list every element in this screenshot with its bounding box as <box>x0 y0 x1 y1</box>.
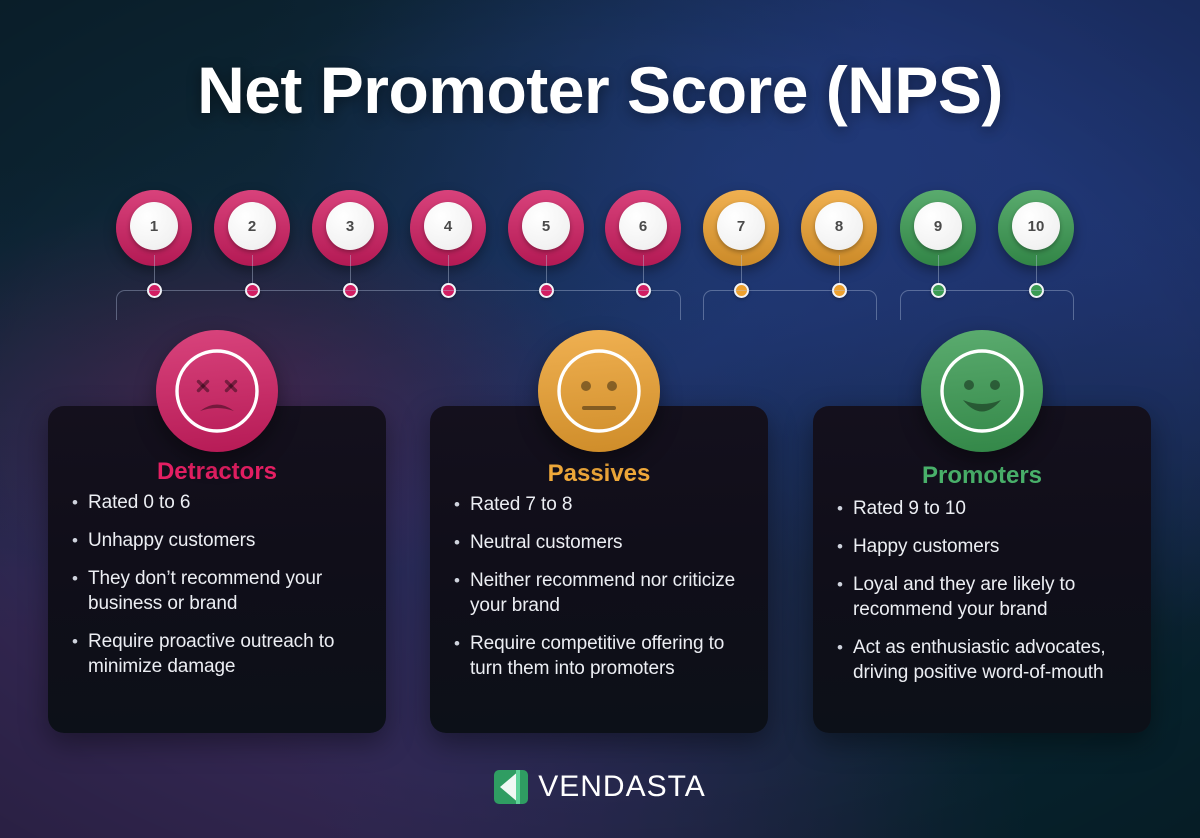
segment-title-detractors: Detractors <box>48 460 386 484</box>
bullet-item: •Act as enthusiastic advocates, driving … <box>837 635 1129 685</box>
bullet-dot-icon: • <box>72 629 88 654</box>
vendasta-chevron-logo-icon <box>494 770 528 804</box>
bullet-dot-icon: • <box>454 530 470 555</box>
connector-stem-10 <box>1036 255 1037 285</box>
score-inner-disc: 10 <box>1012 202 1060 250</box>
bullet-text: Rated 9 to 10 <box>853 496 966 521</box>
bullet-text: Rated 0 to 6 <box>88 490 190 515</box>
bullet-dot-icon: • <box>454 492 470 517</box>
segment-title-passives: Passives <box>430 462 768 486</box>
score-value-label: 10 <box>1028 219 1045 234</box>
score-inner-disc: 2 <box>228 202 276 250</box>
bracket-detractors <box>116 290 681 320</box>
score-inner-disc: 1 <box>130 202 178 250</box>
connector-stem-8 <box>839 255 840 285</box>
bullet-text: Neither recommend nor criticize your bra… <box>470 568 746 618</box>
score-value-label: 7 <box>737 219 745 234</box>
segment-card-passives: Passives•Rated 7 to 8•Neutral customers•… <box>430 406 768 733</box>
vendasta-wordmark: VENDASTA <box>538 772 705 802</box>
score-value-label: 4 <box>444 219 452 234</box>
score-value-label: 6 <box>639 219 647 234</box>
bullet-text: Rated 7 to 8 <box>470 492 572 517</box>
neutral-face-icon <box>538 330 660 452</box>
bullet-dot-icon: • <box>72 528 88 553</box>
bracket-passives <box>703 290 877 320</box>
bullet-dot-icon: • <box>837 635 853 660</box>
score-value-label: 3 <box>346 219 354 234</box>
page-title: Net Promoter Score (NPS) <box>0 56 1200 125</box>
connector-stem-4 <box>448 255 449 285</box>
infographic-canvas: Net Promoter Score (NPS) 12345678910 Det… <box>0 0 1200 838</box>
segment-bullet-list-promoters: •Rated 9 to 10•Happy customers•Loyal and… <box>813 496 1151 698</box>
bullet-text: They don’t recommend your business or br… <box>88 566 364 616</box>
score-value-label: 9 <box>934 219 942 234</box>
segment-card-promoters: Promoters•Rated 9 to 10•Happy customers•… <box>813 406 1151 733</box>
bullet-dot-icon: • <box>454 568 470 593</box>
score-inner-disc: 5 <box>522 202 570 250</box>
bullet-item: •Unhappy customers <box>72 528 364 553</box>
bullet-dot-icon: • <box>454 631 470 656</box>
bullet-text: Require proactive outreach to minimize d… <box>88 629 364 679</box>
connector-stem-5 <box>546 255 547 285</box>
segment-bullet-list-detractors: •Rated 0 to 6•Unhappy customers•They don… <box>48 490 386 692</box>
bullet-dot-icon: • <box>837 534 853 559</box>
score-inner-disc: 3 <box>326 202 374 250</box>
score-value-label: 2 <box>248 219 256 234</box>
sad-face-x-eyes-icon <box>156 330 278 452</box>
score-inner-disc: 8 <box>815 202 863 250</box>
connector-stem-3 <box>350 255 351 285</box>
happy-face-icon <box>921 330 1043 452</box>
bullet-dot-icon: • <box>72 490 88 515</box>
bullet-dot-icon: • <box>837 572 853 597</box>
connector-stem-7 <box>741 255 742 285</box>
segment-bullet-list-passives: •Rated 7 to 8•Neutral customers•Neither … <box>430 492 768 694</box>
bullet-item: •Rated 0 to 6 <box>72 490 364 515</box>
score-inner-disc: 7 <box>717 202 765 250</box>
bullet-item: •They don’t recommend your business or b… <box>72 566 364 616</box>
bullet-item: •Loyal and they are likely to recommend … <box>837 572 1129 622</box>
vendasta-logo: VENDASTA <box>0 770 1200 804</box>
bullet-item: •Require proactive outreach to minimize … <box>72 629 364 679</box>
bullet-text: Act as enthusiastic advocates, driving p… <box>853 635 1129 685</box>
connector-stem-6 <box>643 255 644 285</box>
bullet-dot-icon: • <box>72 566 88 591</box>
bullet-text: Loyal and they are likely to recommend y… <box>853 572 1129 622</box>
bracket-promoters <box>900 290 1074 320</box>
score-value-label: 8 <box>835 219 843 234</box>
segment-title-promoters: Promoters <box>813 464 1151 488</box>
connector-stem-2 <box>252 255 253 285</box>
bullet-item: •Rated 7 to 8 <box>454 492 746 517</box>
score-inner-disc: 6 <box>619 202 667 250</box>
score-value-label: 5 <box>542 219 550 234</box>
connector-stem-1 <box>154 255 155 285</box>
bullet-text: Require competitive offering to turn the… <box>470 631 746 681</box>
bullet-item: •Require competitive offering to turn th… <box>454 631 746 681</box>
bullet-item: •Neither recommend nor criticize your br… <box>454 568 746 618</box>
bullet-text: Unhappy customers <box>88 528 255 553</box>
bullet-text: Neutral customers <box>470 530 622 555</box>
segment-card-detractors: Detractors•Rated 0 to 6•Unhappy customer… <box>48 406 386 733</box>
connector-stem-9 <box>938 255 939 285</box>
score-inner-disc: 4 <box>424 202 472 250</box>
score-inner-disc: 9 <box>914 202 962 250</box>
bullet-item: •Rated 9 to 10 <box>837 496 1129 521</box>
bullet-text: Happy customers <box>853 534 999 559</box>
bullet-item: •Happy customers <box>837 534 1129 559</box>
nps-scale-connectors <box>0 255 1200 335</box>
bullet-item: •Neutral customers <box>454 530 746 555</box>
score-value-label: 1 <box>150 219 158 234</box>
bullet-dot-icon: • <box>837 496 853 521</box>
